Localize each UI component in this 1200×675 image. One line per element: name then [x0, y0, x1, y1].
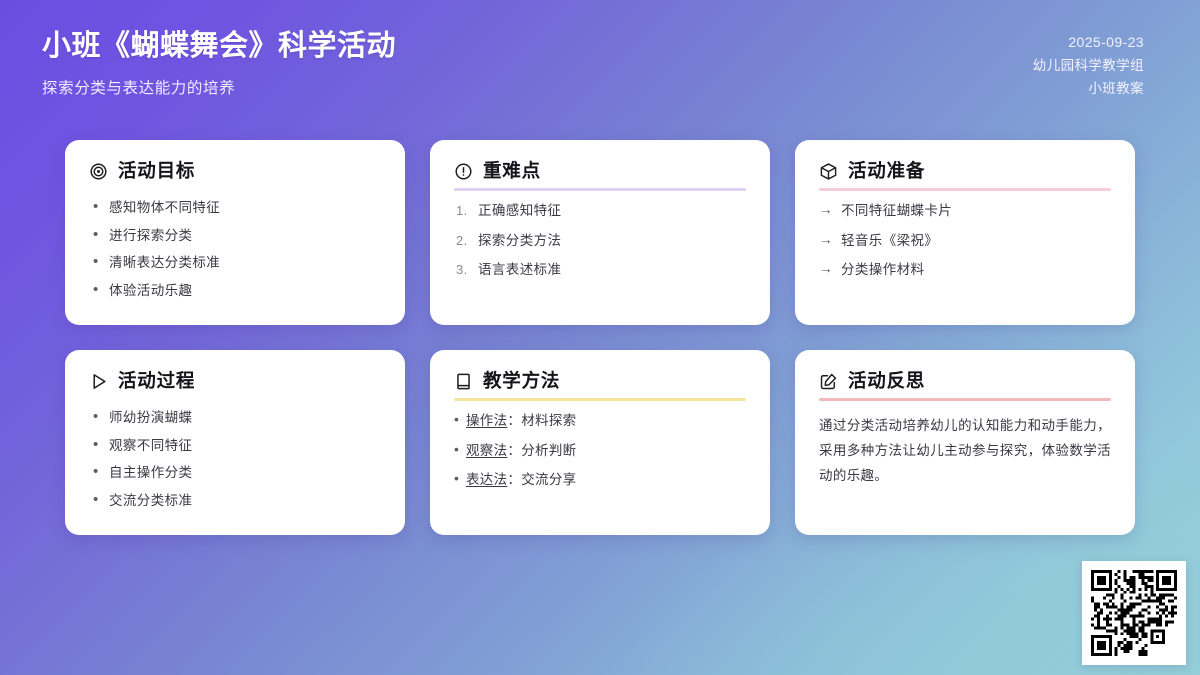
edit-square-icon — [819, 372, 838, 391]
list-item: 观察法：分析判断 — [454, 444, 746, 458]
card-body: 感知物体不同特征进行探索分类清晰表达分类标准体验活动乐趣 — [89, 201, 381, 311]
card-body: 通过分类活动培养幼儿的认知能力和动手能力，采用多种方法让幼儿主动参与探究，体验数… — [819, 414, 1111, 517]
card-title: 活动过程 — [118, 372, 195, 391]
list-item: 自主操作分类 — [89, 466, 381, 480]
list-item: 探索分类方法 — [454, 234, 746, 248]
card-reflection: 活动反思通过分类活动培养幼儿的认知能力和动手能力，采用多种方法让幼儿主动参与探究… — [795, 350, 1135, 535]
card-grid: 活动目标感知物体不同特征进行探索分类清晰表达分类标准体验活动乐趣重难点正确感知特… — [65, 140, 1135, 535]
list-item: 不同特征蝴蝶卡片 — [819, 204, 1111, 218]
list-item: 表达法：交流分享 — [454, 473, 746, 487]
qr-code-icon — [1091, 570, 1177, 656]
card-teaching-methods: 教学方法操作法：材料探索观察法：分析判断表达法：交流分享 — [430, 350, 770, 535]
card-header: 活动过程 — [89, 372, 381, 398]
list-item: 分类操作材料 — [819, 263, 1111, 277]
list-item: 操作法：材料探索 — [454, 414, 746, 428]
list-item: 观察不同特征 — [89, 439, 381, 453]
card-objectives: 活动目标感知物体不同特征进行探索分类清晰表达分类标准体验活动乐趣 — [65, 140, 405, 325]
bullets-list: 感知物体不同特征进行探索分类清晰表达分类标准体验活动乐趣 — [89, 201, 381, 297]
card-body: 师幼扮演蝴蝶观察不同特征自主操作分类交流分类标准 — [89, 411, 381, 521]
cube-icon — [819, 162, 838, 181]
meta-doc-type: 小班教案 — [1033, 81, 1144, 97]
play-triangle-icon — [89, 372, 108, 391]
method-term: 观察法 — [466, 443, 507, 458]
header-meta: 2025-09-23 幼儿园科学教学组 小班教案 — [1033, 26, 1144, 97]
list-item: 正确感知特征 — [454, 204, 746, 218]
list-item: 轻音乐《梁祝》 — [819, 234, 1111, 248]
card-paragraph: 通过分类活动培养幼儿的认知能力和动手能力，采用多种方法让幼儿主动参与探究，体验数… — [819, 414, 1111, 489]
card-header: 活动反思 — [819, 372, 1111, 398]
card-header: 重难点 — [454, 162, 746, 188]
method-term: 操作法 — [466, 413, 507, 428]
qr-code-card[interactable] — [1082, 561, 1186, 665]
meta-group: 幼儿园科学教学组 — [1033, 58, 1144, 74]
title-block: 小班《蝴蝶舞会》科学活动 探索分类与表达能力的培养 — [42, 26, 396, 98]
page-subtitle: 探索分类与表达能力的培养 — [42, 76, 396, 98]
method-term: 表达法 — [466, 472, 507, 487]
card-title: 教学方法 — [483, 372, 560, 391]
card-title: 活动准备 — [848, 162, 925, 181]
list-item: 体验活动乐趣 — [89, 284, 381, 298]
book-icon — [454, 372, 473, 391]
method-separator: ： — [507, 472, 521, 487]
method-separator: ： — [507, 443, 521, 458]
list-item: 感知物体不同特征 — [89, 201, 381, 215]
card-body: 不同特征蝴蝶卡片轻音乐《梁祝》分类操作材料 — [819, 204, 1111, 307]
card-title: 重难点 — [483, 162, 541, 181]
numbers-list: 正确感知特征探索分类方法语言表述标准 — [454, 204, 746, 277]
method-description: 材料探索 — [521, 413, 576, 428]
card-body: 正确感知特征探索分类方法语言表述标准 — [454, 204, 746, 307]
card-body: 操作法：材料探索观察法：分析判断表达法：交流分享 — [454, 414, 746, 517]
method-list: 操作法：材料探索观察法：分析判断表达法：交流分享 — [454, 414, 746, 487]
card-header: 活动目标 — [89, 162, 381, 188]
method-description: 交流分享 — [521, 472, 576, 487]
exclamation-circle-icon — [454, 162, 473, 181]
card-process: 活动过程师幼扮演蝴蝶观察不同特征自主操作分类交流分类标准 — [65, 350, 405, 535]
card-accent-rule — [454, 188, 746, 191]
list-item: 清晰表达分类标准 — [89, 256, 381, 270]
method-separator: ： — [507, 413, 521, 428]
list-item: 进行探索分类 — [89, 229, 381, 243]
card-accent-rule — [819, 398, 1111, 401]
card-title: 活动反思 — [848, 372, 925, 391]
meta-date: 2025-09-23 — [1033, 34, 1144, 51]
arrows-list: 不同特征蝴蝶卡片轻音乐《梁祝》分类操作材料 — [819, 204, 1111, 277]
list-item: 语言表述标准 — [454, 263, 746, 277]
card-title: 活动目标 — [118, 162, 195, 181]
card-header: 教学方法 — [454, 372, 746, 398]
page-title: 小班《蝴蝶舞会》科学活动 — [42, 28, 396, 64]
list-item: 交流分类标准 — [89, 494, 381, 508]
slide-root: 小班《蝴蝶舞会》科学活动 探索分类与表达能力的培养 2025-09-23 幼儿园… — [0, 0, 1200, 675]
target-icon — [89, 162, 108, 181]
card-accent-rule — [819, 188, 1111, 191]
list-item: 师幼扮演蝴蝶 — [89, 411, 381, 425]
card-accent-rule — [454, 398, 746, 401]
card-key-difficulties: 重难点正确感知特征探索分类方法语言表述标准 — [430, 140, 770, 325]
card-preparation: 活动准备不同特征蝴蝶卡片轻音乐《梁祝》分类操作材料 — [795, 140, 1135, 325]
bullets-list: 师幼扮演蝴蝶观察不同特征自主操作分类交流分类标准 — [89, 411, 381, 507]
method-description: 分析判断 — [521, 443, 576, 458]
card-header: 活动准备 — [819, 162, 1111, 188]
slide-header: 小班《蝴蝶舞会》科学活动 探索分类与表达能力的培养 2025-09-23 幼儿园… — [0, 0, 1200, 130]
